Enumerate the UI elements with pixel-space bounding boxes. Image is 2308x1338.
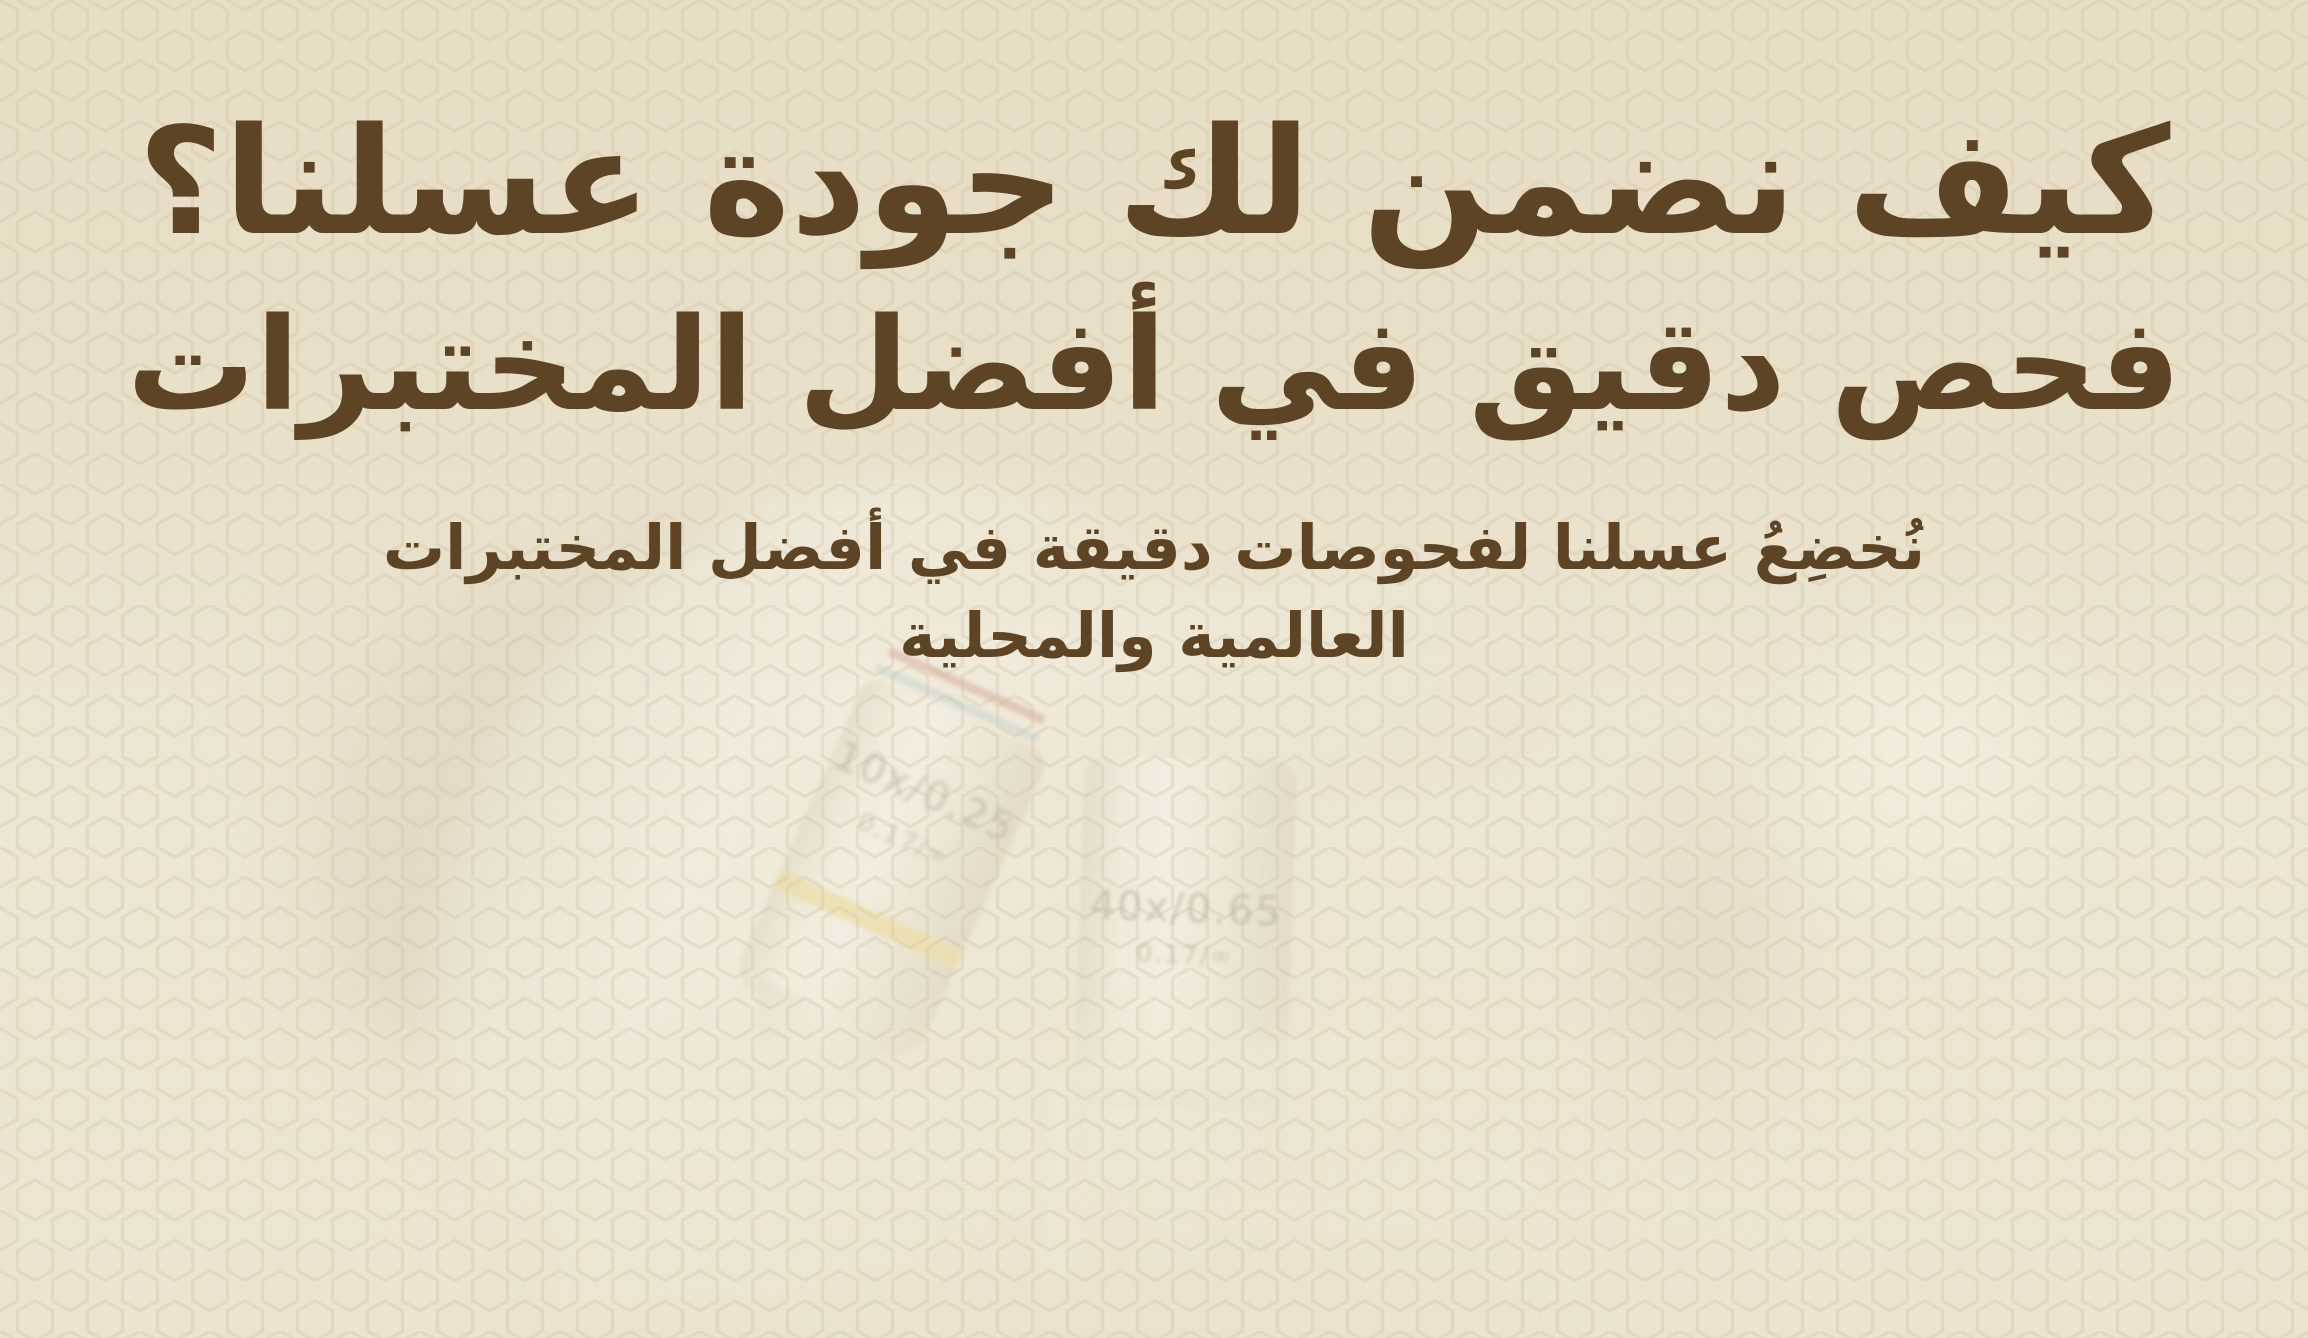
text-content-block: كيف نضمن لك جودة عسلنا؟ فحص دقيق في أفضل… — [0, 0, 2308, 1338]
headline-line-1: كيف نضمن لك جودة عسلنا؟ — [0, 108, 2308, 256]
honey-quality-banner: 10x/0.25 ∞/0.17 40x/0.65 ∞/0.17 كيف نضمن… — [0, 0, 2308, 1338]
headline-line-2: فحص دقيق في أفضل المختبرات — [0, 302, 2308, 430]
subtitle-text: نُخضِعُ عسلنا لفحوصات دقيقة في أفضل المخ… — [294, 504, 2014, 680]
